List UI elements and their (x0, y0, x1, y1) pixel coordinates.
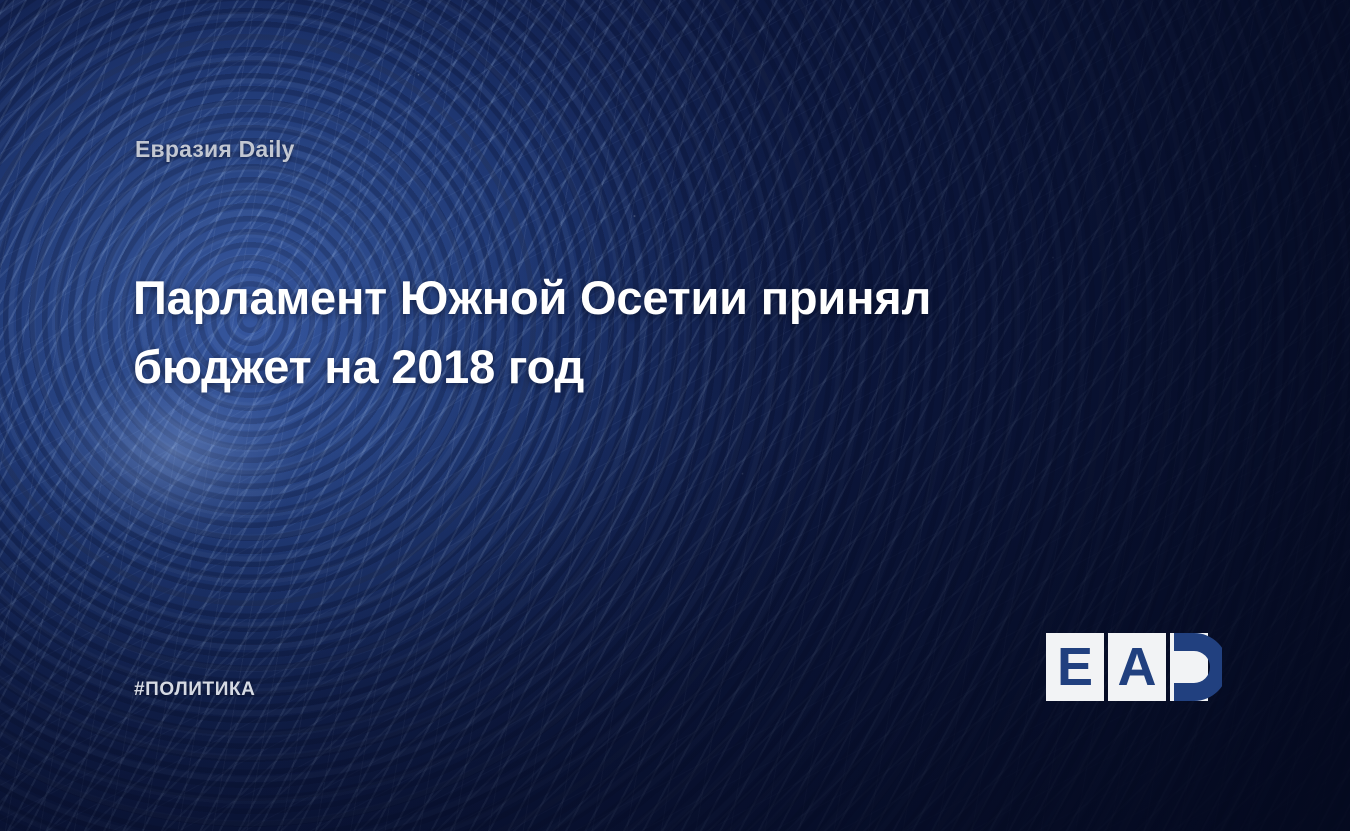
brand-name: Евразия Daily (135, 136, 295, 163)
category-tag: #ПОЛИТИКА (134, 679, 256, 701)
headline-line-1: Парламент Южной Осетии принял (133, 264, 1093, 333)
logo-letter-a: A (1108, 633, 1166, 701)
logo-split-seam (1170, 665, 1208, 670)
headline-line-2: бюджет на 2018 год (133, 333, 1093, 402)
eadaily-logo: E A (1046, 633, 1222, 701)
card-content: Евразия Daily Парламент Южной Осетии при… (0, 0, 1350, 831)
news-share-card: Евразия Daily Парламент Южной Осетии при… (0, 0, 1350, 831)
page-title: Парламент Южной Осетии принял бюджет на … (133, 264, 1093, 401)
logo-letter-e: E (1046, 633, 1104, 701)
